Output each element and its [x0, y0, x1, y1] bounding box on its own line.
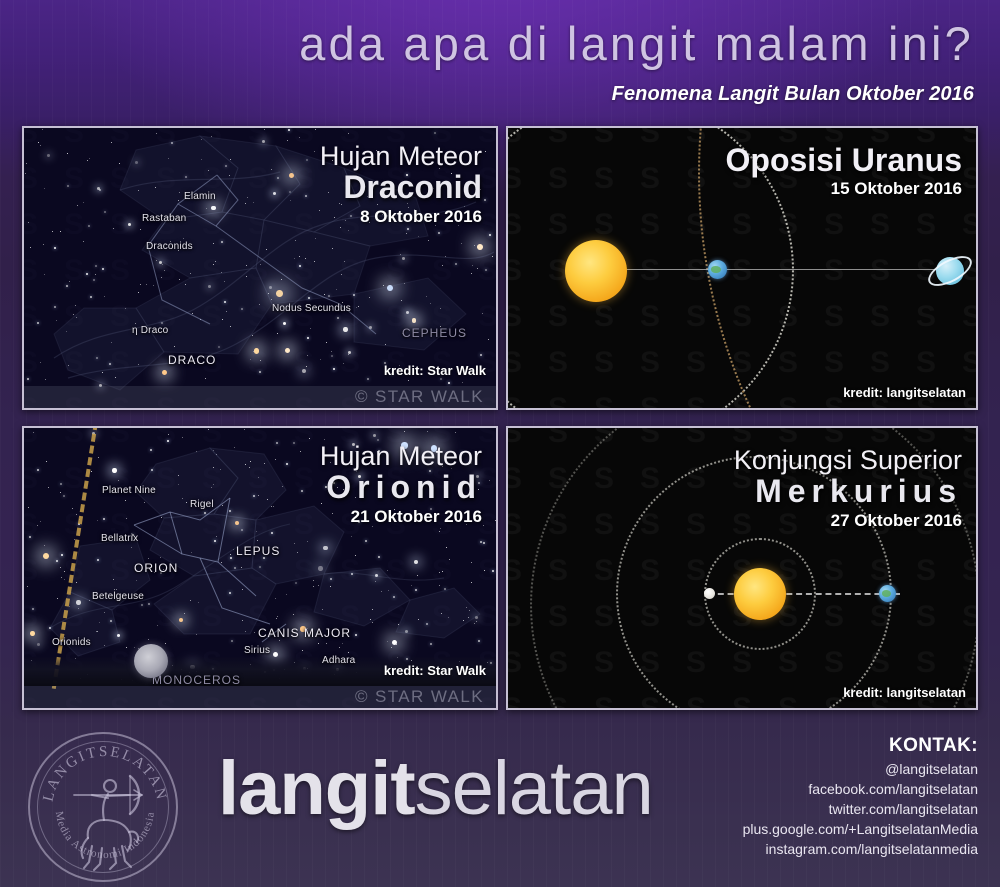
- panel-orionid[interactable]: SSSSSSSSSSSSSSSSSSSSSSSSSSSSSSSSSSSSSSSS…: [22, 426, 498, 710]
- mercury-body: [704, 588, 715, 599]
- panel-draconid-title-line1: Hujan Meteor: [320, 142, 482, 170]
- contact-list: @langitselatanfacebook.com/langitselatan…: [743, 760, 978, 859]
- star-label: Draconids: [146, 241, 193, 252]
- contact-block: KONTAK: @langitselatanfacebook.com/langi…: [743, 735, 978, 859]
- panel-draconid-credit: kredit: Star Walk: [384, 363, 486, 378]
- uranus-group: [927, 248, 973, 294]
- star-label: LEPUS: [236, 544, 280, 558]
- panel-merkurius-credit: kredit: langitselatan: [843, 685, 966, 700]
- star-label: Nodus Secundus: [272, 303, 351, 314]
- star-label: Rigel: [190, 499, 214, 510]
- star-label: Sirius: [244, 645, 270, 656]
- opposition-sightline: [596, 269, 941, 270]
- panel-orionid-title-line1: Hujan Meteor: [320, 442, 482, 470]
- star-label: Planet Nine: [102, 485, 156, 496]
- poster-footer: LANGITSELATAN #Media Astronomi Indonesia…: [0, 713, 1000, 887]
- star-label: DRACO: [168, 353, 216, 367]
- wordmark-light: selatan: [415, 746, 653, 831]
- earth-body: [879, 585, 896, 602]
- star-label: Rastaban: [142, 213, 186, 224]
- panel-orionid-credit: kredit: Star Walk: [384, 663, 486, 678]
- panel-merkurius-date: 27 Oktober 2016: [734, 510, 962, 533]
- contact-line[interactable]: plus.google.com/+LangitselatanMedia: [743, 820, 978, 840]
- contact-line[interactable]: @langitselatan: [743, 760, 978, 780]
- star-label: CANIS MAJOR: [258, 626, 351, 640]
- starwalk-watermark-orionid: © STAR WALK: [355, 687, 484, 707]
- contact-line[interactable]: twitter.com/langitselatan: [743, 800, 978, 820]
- langitselatan-logo: LANGITSELATAN #Media Astronomi Indonesia…: [28, 732, 178, 882]
- star-label: ORION: [134, 561, 178, 575]
- starwalk-watermark-draconid: © STAR WALK: [355, 387, 484, 407]
- panel-uranus[interactable]: SSSSSSSSSSSSSSSSSSSSSSSSSSSSSSSSSSSSSSSS…: [506, 126, 978, 410]
- page-title: ada apa di langit malam ini?: [299, 16, 974, 71]
- page-subtitle: Fenomena Langit Bulan Oktober 2016: [612, 83, 974, 106]
- moon-body: [134, 644, 168, 678]
- panel-merkurius-title-line1: Konjungsi Superior: [734, 446, 962, 474]
- panel-merkurius[interactable]: SSSSSSSSSSSSSSSSSSSSSSSSSSSSSSSSSSSSSSSS…: [506, 426, 978, 710]
- star-label: η Draco: [132, 325, 168, 336]
- contact-line[interactable]: instagram.com/langitselatanmedia: [743, 840, 978, 860]
- panel-draconid-date: 8 Oktober 2016: [320, 206, 482, 229]
- star-label: Orionids: [52, 637, 91, 648]
- panel-uranus-date: 15 Oktober 2016: [726, 178, 963, 201]
- panel-merkurius-title: Konjungsi Superior Merkurius 27 Oktober …: [734, 446, 962, 533]
- sagittarius-archer-icon: LANGITSELATAN #Media Astronomi Indonesia…: [30, 734, 180, 884]
- panel-orionid-date: 21 Oktober 2016: [320, 506, 482, 529]
- wordmark-bold: langit: [218, 746, 415, 831]
- sun-body: [565, 240, 627, 302]
- panel-orionid-title: Hujan Meteor Orionid 21 Oktober 2016: [320, 442, 482, 529]
- earth-body: [708, 260, 727, 279]
- star-label: CEPHEUS: [402, 326, 467, 340]
- star-label: MONOCEROS: [152, 673, 241, 687]
- panel-orionid-title-line2: Orionid: [320, 470, 482, 506]
- panel-draconid[interactable]: SSSSSSSSSSSSSSSSSSSSSSSSSSSSSSSSSSSSSSSS…: [22, 126, 498, 410]
- panel-uranus-title: Oposisi Uranus 15 Oktober 2016: [726, 144, 963, 201]
- panel-draconid-title: Hujan Meteor Draconid 8 Oktober 2016: [320, 142, 482, 229]
- contact-line[interactable]: facebook.com/langitselatan: [743, 780, 978, 800]
- panel-uranus-title-line1: Oposisi Uranus: [726, 144, 963, 178]
- star-label: Elamin: [184, 191, 216, 202]
- star-label: Betelgeuse: [92, 591, 144, 602]
- star-label: Adhara: [322, 655, 355, 666]
- panel-draconid-title-line2: Draconid: [320, 170, 482, 206]
- kontak-heading: KONTAK:: [743, 735, 978, 757]
- star-label: Bellatrix: [101, 533, 138, 544]
- panel-uranus-credit: kredit: langitselatan: [843, 385, 966, 400]
- poster-header: ada apa di langit malam ini? Fenomena La…: [0, 0, 1000, 118]
- sun-body: [734, 568, 786, 620]
- panel-merkurius-title-line2: Merkurius: [734, 474, 962, 510]
- poster-root: ada apa di langit malam ini? Fenomena La…: [0, 0, 1000, 887]
- langitselatan-wordmark: langitselatan: [218, 751, 653, 827]
